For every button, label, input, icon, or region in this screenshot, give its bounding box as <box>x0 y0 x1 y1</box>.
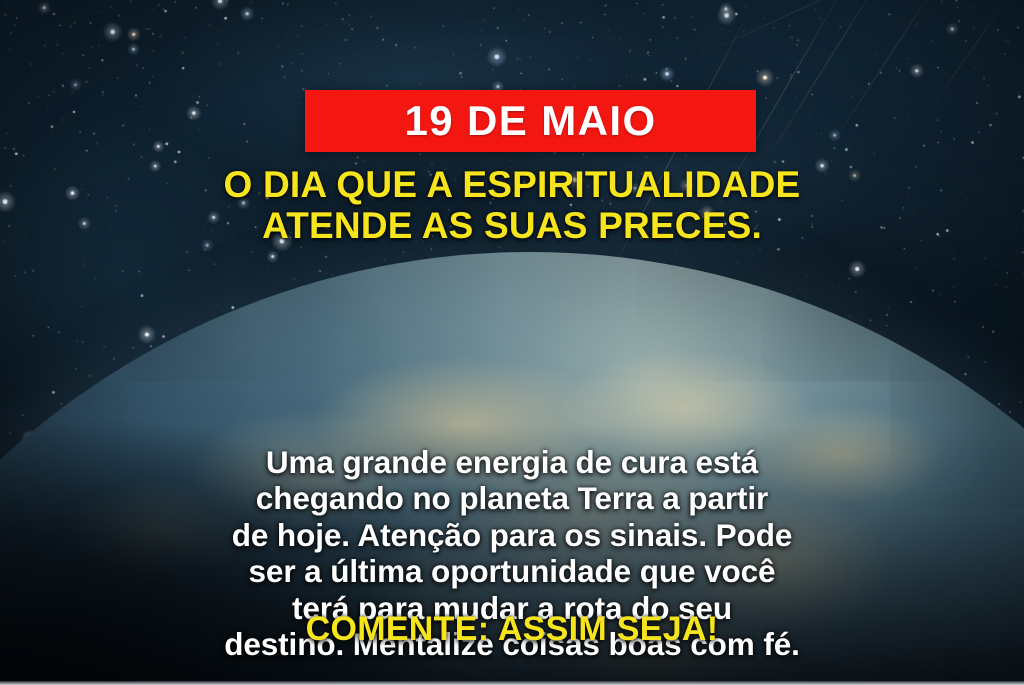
headline: O DIA QUE A ESPIRITUALIDADE ATENDE AS SU… <box>0 165 1024 246</box>
call-to-action-text: COMENTE: ASSIM SEJA! <box>0 612 1024 646</box>
bottom-edge-strip <box>0 681 1024 685</box>
headline-line-2: ATENDE AS SUAS PRECES. <box>0 206 1024 247</box>
poster-canvas: 19 DE MAIO O DIA QUE A ESPIRITUALIDADE A… <box>0 0 1024 685</box>
headline-line-1: O DIA QUE A ESPIRITUALIDADE <box>0 165 1024 206</box>
date-banner: 19 DE MAIO <box>305 90 756 152</box>
body-line-1: Uma grande energia de cura está <box>52 444 972 480</box>
body-line-3: de hoje. Atenção para os sinais. Pode <box>52 517 972 553</box>
body-line-2: chegando no planeta Terra a partir <box>52 480 972 516</box>
date-banner-text: 19 DE MAIO <box>404 100 656 142</box>
body-line-4: ser a última oportunidade que você <box>52 553 972 589</box>
poster-content: 19 DE MAIO O DIA QUE A ESPIRITUALIDADE A… <box>0 0 1024 685</box>
